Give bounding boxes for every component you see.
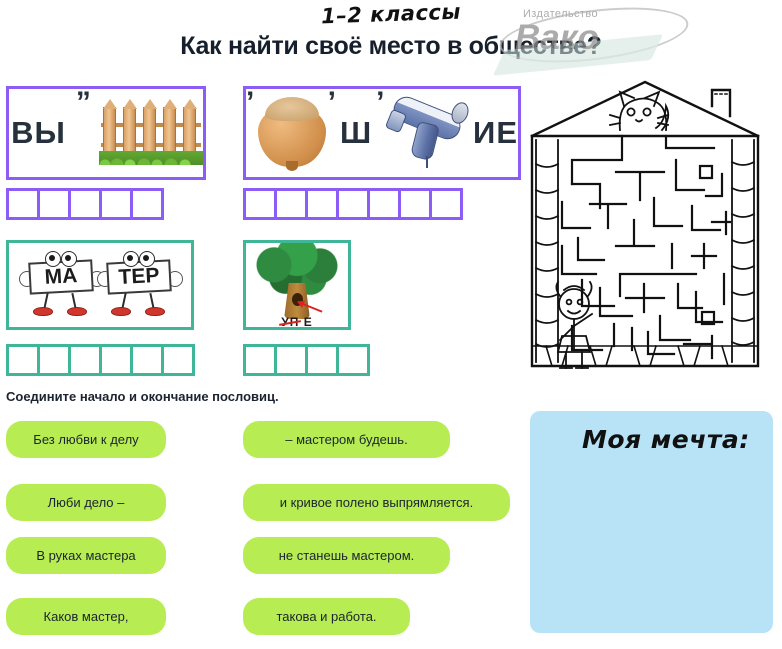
answer-cell[interactable]: [429, 188, 463, 220]
letter-card-character-icon-ter: ТЕР: [101, 247, 177, 323]
letter-card-character-icon-ma: МА: [23, 247, 99, 323]
proverb-start-4[interactable]: Каков мастер,: [6, 598, 166, 635]
answer-cells-fence[interactable]: [6, 188, 161, 220]
rebus-card-nut-dryer[interactable]: ’ ’ Ш ’ ИЕ: [243, 86, 521, 180]
tree-rebus-label: УП Е: [254, 315, 340, 329]
proverb-ending-1[interactable]: – мастером будешь.: [243, 421, 450, 458]
proverb-ending-3[interactable]: не станешь мастером.: [243, 537, 450, 574]
answer-cell[interactable]: [130, 188, 164, 220]
rebus-apostrophe: ”: [76, 95, 91, 110]
hair-dryer-icon: [388, 97, 469, 169]
answer-cells-tree[interactable]: [243, 344, 367, 376]
answer-cell[interactable]: [99, 344, 133, 376]
cat-icon: [610, 92, 668, 130]
girl-icon: [556, 282, 592, 368]
answer-cell[interactable]: [243, 188, 277, 220]
answer-cell[interactable]: [68, 188, 102, 220]
hazelnut-icon: [258, 97, 323, 169]
answer-cell[interactable]: [274, 344, 308, 376]
proverb-ending-4[interactable]: такова и работа.: [243, 598, 410, 635]
answer-cells-nut-dryer[interactable]: [243, 188, 460, 220]
answer-cell[interactable]: [336, 344, 370, 376]
proverb-start-1[interactable]: Без любви к делу: [6, 421, 166, 458]
rebus-letters-vy: ВЫ: [11, 115, 66, 151]
answer-cell[interactable]: [99, 188, 133, 220]
rebus-apostrophe-dryer: ’: [376, 95, 384, 110]
my-dream-box[interactable]: Моя мечта:: [530, 411, 773, 633]
answer-cell[interactable]: [37, 188, 71, 220]
rebus-card-tree-hollow[interactable]: УП Е: [243, 240, 351, 330]
proverbs-instruction: Соедините начало и окончание пословиц.: [6, 389, 279, 404]
proverb-start-2[interactable]: Люби дело –: [6, 484, 166, 521]
answer-cell[interactable]: [367, 188, 401, 220]
rebus-card-fence[interactable]: ВЫ ”: [6, 86, 206, 180]
fence-icon: [101, 101, 201, 165]
answer-cell[interactable]: [398, 188, 432, 220]
tree-with-hollow-icon: УП Е: [254, 243, 340, 327]
rebus-card-master-letters[interactable]: МА ТЕР: [6, 240, 194, 330]
answer-cell[interactable]: [274, 188, 308, 220]
tree-rebus-struck-letters: УП: [281, 315, 299, 329]
answer-cell[interactable]: [243, 344, 277, 376]
answer-cell[interactable]: [161, 344, 195, 376]
answer-cell[interactable]: [37, 344, 71, 376]
page-title: Как найти своё место в обществе?: [0, 32, 782, 61]
rebus-letters-ie: ИЕ: [473, 115, 518, 151]
proverb-ending-2[interactable]: и кривое полено выпрямляется.: [243, 484, 510, 521]
answer-cell[interactable]: [336, 188, 370, 220]
maze-svg: [516, 78, 774, 390]
rebus-apostrophe-right: ’: [328, 95, 336, 110]
answer-cell[interactable]: [305, 344, 339, 376]
answer-cell[interactable]: [6, 188, 40, 220]
answer-cell[interactable]: [305, 188, 339, 220]
letter-card-text-ter: ТЕР: [106, 259, 172, 294]
letter-card-text-ma: МА: [28, 259, 94, 294]
tree-rebus-replacement-letter: Е: [304, 315, 313, 329]
answer-cells-master[interactable]: [6, 344, 192, 376]
answer-cell[interactable]: [130, 344, 164, 376]
house-maze-illustration: [516, 78, 774, 390]
proverb-start-3[interactable]: В руках мастера: [6, 537, 166, 574]
rebus-letter-sh: Ш: [340, 115, 372, 151]
answer-cell[interactable]: [68, 344, 102, 376]
page-header: 1–2 классы Как найти своё место в общест…: [0, 0, 782, 78]
my-dream-label: Моя мечта:: [582, 425, 750, 454]
rebus-apostrophe-left: ’: [246, 95, 254, 110]
answer-cell[interactable]: [6, 344, 40, 376]
